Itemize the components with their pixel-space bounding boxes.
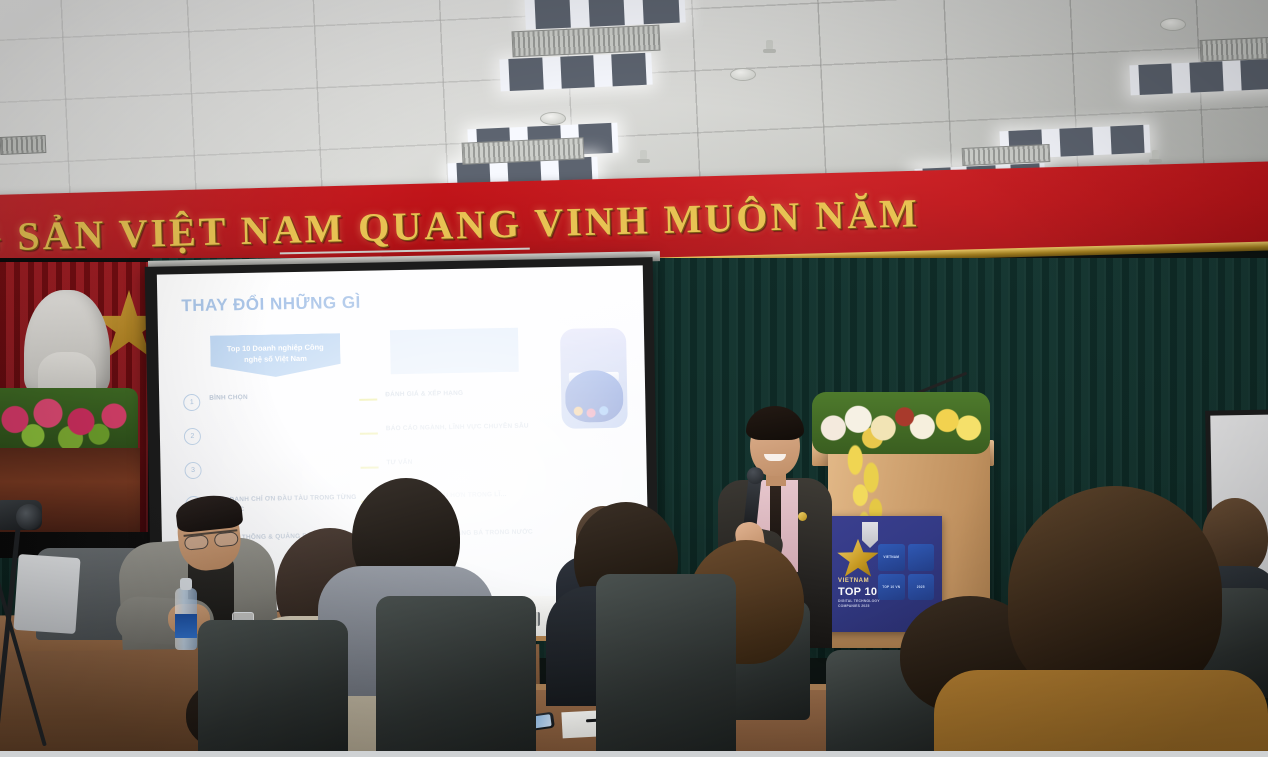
podium-tile <box>908 544 935 571</box>
slide-row-left-text <box>210 425 360 428</box>
slide-row-number: 2 <box>184 428 201 445</box>
hvac-vent <box>0 135 46 155</box>
sprinkler-head <box>1152 150 1159 163</box>
smoke-detector <box>540 112 566 125</box>
camera-lens-icon <box>16 504 42 530</box>
audience-chair <box>596 574 736 757</box>
slide-row-left-text: BÌNH CHỌN <box>209 391 359 404</box>
podium-tile: TOP 10 VN <box>878 574 905 601</box>
sprinkler-head <box>640 150 647 163</box>
audience-chair <box>376 596 536 757</box>
ceiling-light-panel <box>1129 59 1268 96</box>
foreground-shoulders-large <box>934 670 1268 757</box>
slide-row-right-text: ĐÁNH GIÁ & XẾP HẠNG <box>385 386 627 401</box>
white-bust <box>24 290 110 400</box>
smoke-detector <box>730 68 756 81</box>
podium-tile: 2025 <box>908 574 935 601</box>
audience-chair <box>198 620 348 757</box>
water-bottle <box>175 588 197 650</box>
slide-title: THAY ĐỔI NHỮNG GÌ <box>181 288 619 316</box>
slide-row-left-text <box>210 459 360 462</box>
tablet-device <box>13 554 80 634</box>
speaker-smile <box>764 454 786 461</box>
slide-chip-secondary <box>390 328 519 374</box>
logo-subtitle: DIGITAL TECHNOLOGY COMPANIES 2025 <box>838 599 888 609</box>
podium-tile-grid: VIETNAM TOP 10 VN 2025 <box>878 544 934 600</box>
slide-row: 3 TƯ VẤN <box>184 454 628 480</box>
slide-row-right-text: TƯ VẤN <box>386 454 628 469</box>
speaker-hair <box>746 406 804 440</box>
slide-row-number: 1 <box>183 394 200 411</box>
logo-line2: TOP 10 <box>838 586 877 598</box>
slide-chip-badge: Top 10 Doanh nghiệp Công nghệ số Việt Na… <box>210 333 341 378</box>
slide-row-dash <box>360 432 378 434</box>
star-icon <box>836 538 880 580</box>
photo-stage: G SẢN VIỆT NAM QUANG VINH MUÔN NĂM THAY … <box>0 0 1268 757</box>
podium-tile: VIETNAM <box>878 544 905 571</box>
slide-row: 1 BÌNH CHỌN ĐÁNH GIÁ & XẾP HẠNG <box>183 386 627 412</box>
podium-tile-label: VIETNAM <box>883 555 899 559</box>
smoke-detector <box>1160 18 1186 31</box>
hvac-vent <box>1200 36 1268 62</box>
slide-row-right-text: BÁO CÁO NGÀNH, LĨNH VỰC CHUYÊN SÂU <box>386 420 628 435</box>
logo-line1: VIETNAM <box>838 578 869 584</box>
podium-tile-label: TOP 10 VN <box>882 585 900 589</box>
lapel-pin-icon <box>798 512 807 521</box>
slide-row-number: 3 <box>184 462 201 479</box>
slide-row-dash <box>359 398 377 400</box>
bottom-edge-strip <box>0 751 1268 757</box>
podium-tile-label: 2025 <box>917 585 925 589</box>
sprinkler-head <box>766 40 773 53</box>
slide-row: 2 BÁO CÁO NGÀNH, LĨNH VỰC CHUYÊN SÂU <box>184 420 628 446</box>
slide-row-dash <box>361 466 379 468</box>
bottle-label <box>175 614 197 638</box>
